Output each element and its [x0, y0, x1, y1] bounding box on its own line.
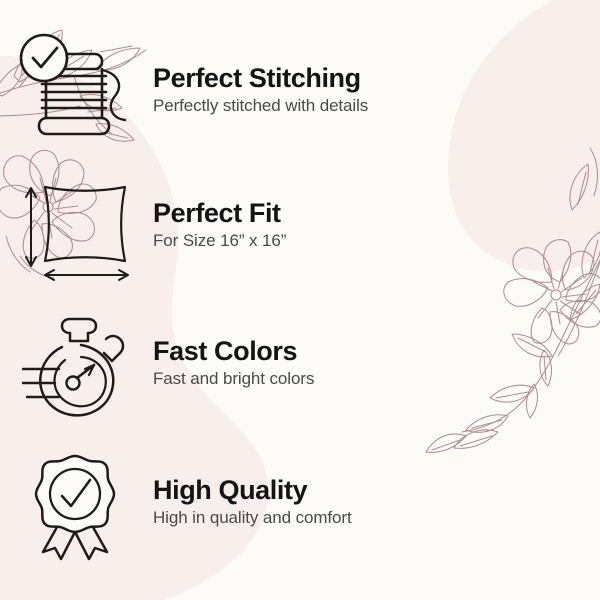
feature-item-perfect-fit: Perfect Fit For Size 16” x 16” — [0, 155, 600, 295]
feature-item-high-quality: High Quality High in quality and comfort — [0, 432, 600, 572]
feature-infographic: Perfect Stitching Perfectly stitched wit… — [0, 0, 600, 600]
feature-text-block: Perfect Stitching Perfectly stitched wit… — [150, 63, 600, 117]
feature-description: For Size 16” x 16” — [153, 231, 600, 251]
feature-description: Perfectly stitched with details — [153, 96, 600, 116]
feature-title: Perfect Stitching — [153, 63, 600, 93]
thread-spool-check-icon — [0, 20, 150, 160]
feature-title: Perfect Fit — [153, 198, 600, 228]
stopwatch-speed-icon — [0, 293, 150, 433]
pillow-dimensions-icon — [0, 155, 150, 295]
feature-description: Fast and bright colors — [153, 369, 600, 389]
feature-description: High in quality and comfort — [153, 508, 600, 528]
feature-text-block: High Quality High in quality and comfort — [150, 475, 600, 529]
feature-list: Perfect Stitching Perfectly stitched wit… — [0, 0, 600, 600]
feature-title: Fast Colors — [153, 336, 600, 366]
feature-text-block: Fast Colors Fast and bright colors — [150, 336, 600, 390]
award-rosette-check-icon — [0, 432, 150, 572]
feature-item-perfect-stitching: Perfect Stitching Perfectly stitched wit… — [0, 20, 600, 160]
feature-title: High Quality — [153, 475, 600, 505]
feature-text-block: Perfect Fit For Size 16” x 16” — [150, 198, 600, 252]
feature-item-fast-colors: Fast Colors Fast and bright colors — [0, 293, 600, 433]
